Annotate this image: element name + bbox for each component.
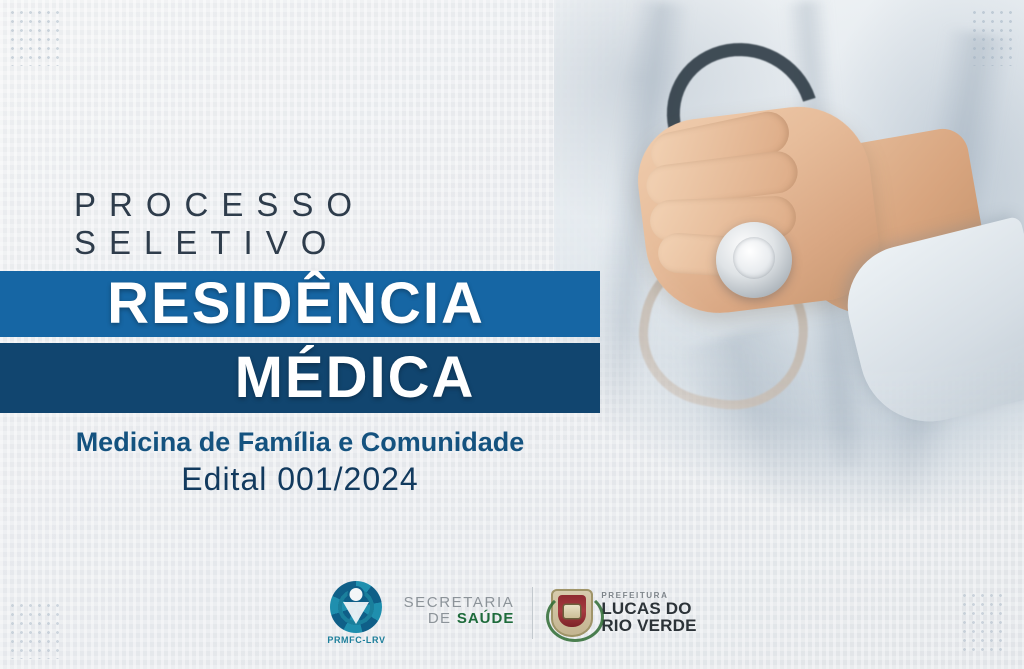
footer-divider (532, 587, 533, 639)
title-band-medica: MÉDICA (0, 343, 600, 413)
subtitle-edital: Edital 001/2024 (0, 461, 600, 498)
secretaria-line-1: SECRETARIA (404, 595, 515, 611)
doctor-stethoscope-photo (554, 0, 1024, 560)
coat-of-arms-icon (551, 589, 593, 637)
prmfc-emblem-icon (330, 581, 382, 633)
edital-retificado-ribbon: EDITAL RETIFICADO (0, 0, 273, 86)
footer-logos: PRMFC-LRV SECRETARIA DE SAÚDE PREFEITURA… (0, 573, 1024, 653)
secretaria-de: DE (428, 610, 457, 627)
headline-block: PROCESSO SELETIVO RESIDÊNCIA MÉDICA Medi… (0, 186, 620, 498)
secretaria-de-saude-logo: SECRETARIA DE SAÚDE (404, 595, 515, 631)
wreath-icon (546, 592, 604, 642)
prmfc-acronym: PRMFC-LRV (327, 635, 385, 645)
prefeitura-text: PREFEITURA LUCAS DO RIO VERDE (601, 592, 696, 635)
subtitle-specialty: Medicina de Família e Comunidade (0, 427, 600, 458)
secretaria-line-2: DE SAÚDE (404, 611, 515, 627)
secretaria-saude: SAÚDE (457, 610, 515, 627)
poster-canvas: EDITAL RETIFICADO PROCESSO SELETIVO RESI… (0, 0, 1024, 669)
prefeitura-logo: PREFEITURA LUCAS DO RIO VERDE (551, 589, 696, 637)
prmfc-logo: PRMFC-LRV (327, 581, 385, 645)
kicker-text: PROCESSO SELETIVO (74, 186, 620, 262)
stethoscope-chestpiece-icon (716, 222, 792, 298)
prefeitura-city-line-1: LUCAS DO (601, 600, 696, 617)
dot-grid-icon (8, 8, 60, 66)
prefeitura-city-line-2: RIO VERDE (601, 617, 696, 634)
title-band-residencia: RESIDÊNCIA (0, 271, 600, 337)
